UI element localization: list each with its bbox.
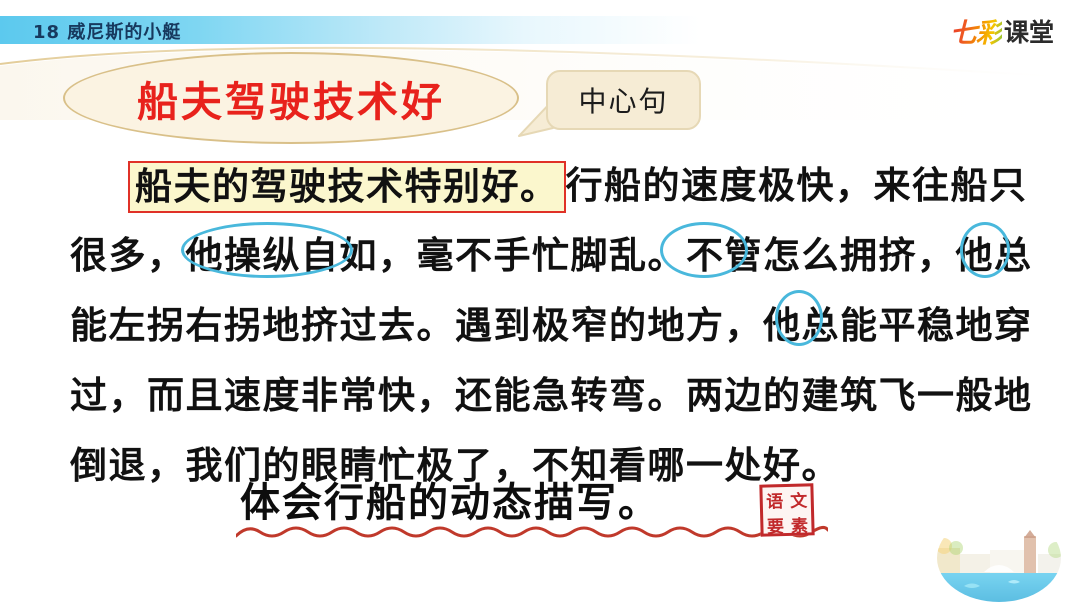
brand-logo-colored-text: 七彩 [950, 11, 1002, 50]
brand-logo: 七彩 课堂 [950, 11, 1054, 50]
seal-cell-2: 文 [786, 486, 811, 512]
highlighted-key-sentence: 船夫的驾驶技术特别好。 [128, 161, 566, 213]
oval-callout-shape: 船夫驾驶技术好 [63, 52, 519, 144]
lesson-title: 18 威尼斯的小艇 [33, 18, 181, 44]
seal-cell-1: 语 [762, 487, 787, 513]
passage-line-1: 船夫的驾驶技术特别好。行船的速度极快，来往船只 [70, 150, 1020, 220]
seal-cell-4: 素 [787, 511, 812, 537]
passage-line-3: 能左拐右拐地挤过去。遇到极窄的地方，他总能平稳地穿 [70, 290, 1020, 360]
passage-line-4: 过，而且速度非常快，还能急转弯。两边的建筑飞一般地 [70, 360, 1020, 430]
speech-bubble: 中心句 [546, 70, 701, 130]
speech-bubble-label: 中心句 [578, 80, 668, 120]
seal-cell-3: 要 [763, 512, 788, 538]
passage-line-2: 很多，他操纵自如，毫不手忙脚乱。不管怎么拥挤，他总 [70, 220, 1020, 290]
passage-body: 船夫的驾驶技术特别好。行船的速度极快，来往船只 很多，他操纵自如，毫不手忙脚乱。… [70, 150, 1020, 500]
passage-line-1-rest: 行船的速度极快，来往船只 [566, 163, 1028, 207]
conclusion-text: 体会行船的动态描写。 [240, 470, 660, 528]
seal-stamp: 语 文 要 素 [759, 483, 814, 536]
brand-logo-plain-text: 课堂 [1004, 13, 1054, 49]
slide-canvas: 18 威尼斯的小艇 七彩 课堂 船夫驾驶技术好 中心句 船夫的驾驶技术特别好。行… [0, 0, 1080, 608]
venice-cityscape-illustration [924, 528, 1074, 604]
oval-callout-label: 船夫驾驶技术好 [137, 68, 445, 128]
wavy-underline-decoration [236, 522, 828, 544]
